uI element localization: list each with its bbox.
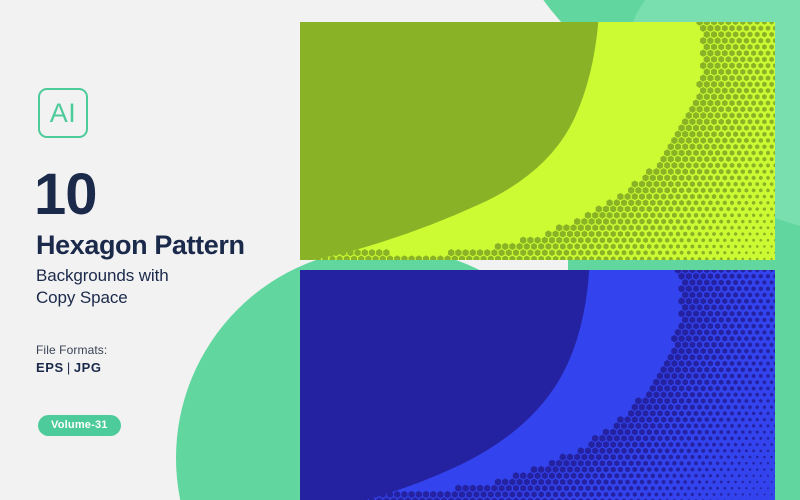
item-count: 10 xyxy=(34,166,97,224)
volume-badge: Volume-31 xyxy=(38,415,121,436)
poster-canvas: AI 10 Hexagon Pattern Backgrounds with C… xyxy=(0,0,800,500)
page-subtitle-line-2: Copy Space xyxy=(36,287,169,309)
info-column: AI 10 Hexagon Pattern Backgrounds with C… xyxy=(0,0,300,500)
file-formats-value: EPS|JPG xyxy=(36,360,102,375)
page-subtitle: Backgrounds with Copy Space xyxy=(36,265,169,309)
page-title: Hexagon Pattern xyxy=(36,231,245,261)
green-hexagon-pattern-panel xyxy=(300,22,775,260)
file-format-separator: | xyxy=(64,360,74,375)
ai-format-badge-label: AI xyxy=(50,100,77,127)
ai-format-badge: AI xyxy=(38,88,88,138)
green-hexagon-pattern-graphic xyxy=(300,22,775,260)
file-formats-label: File Formats: xyxy=(36,343,107,357)
file-format-secondary: JPG xyxy=(74,360,102,375)
page-subtitle-line-1: Backgrounds with xyxy=(36,265,169,287)
blue-hexagon-pattern-graphic xyxy=(300,270,775,500)
blue-hexagon-pattern-panel xyxy=(300,270,775,500)
file-format-primary: EPS xyxy=(36,360,64,375)
